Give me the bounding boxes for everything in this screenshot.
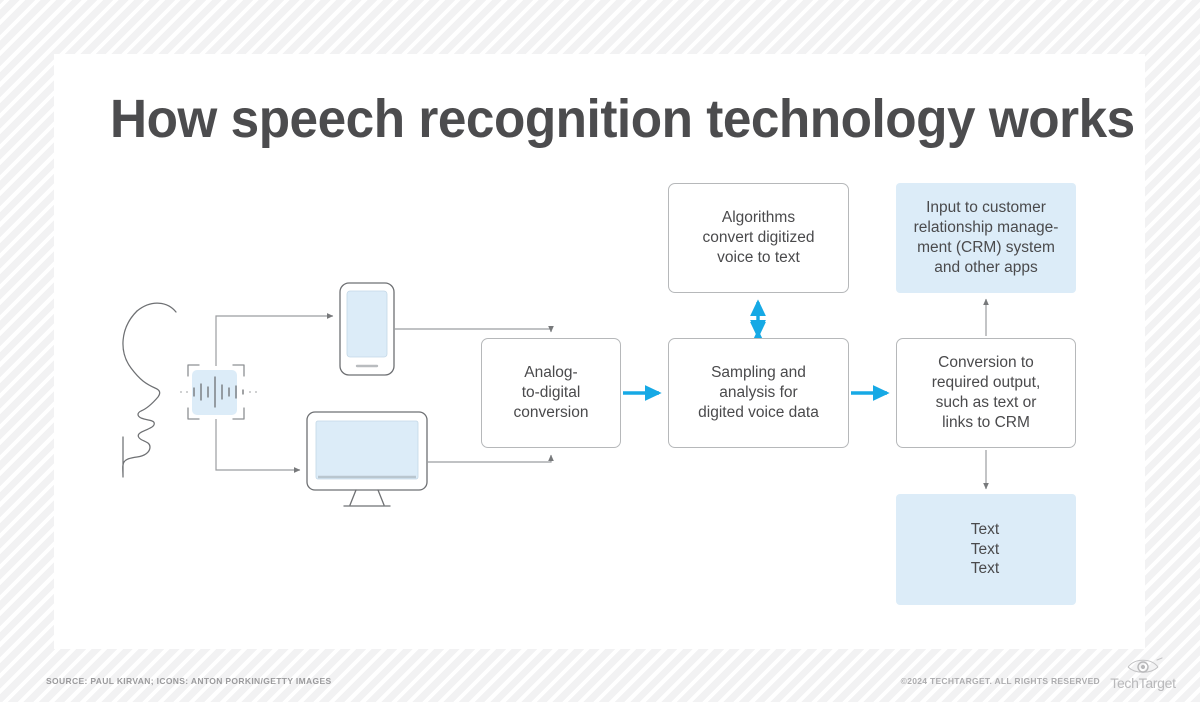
- eye-icon: [1104, 655, 1182, 677]
- copyright-notice: ©2024 TECHTARGET. ALL RIGHTS RESERVED: [901, 676, 1100, 686]
- process-box-sampling[interactable]: Sampling and analysis for digited voice …: [668, 338, 849, 448]
- infographic-stage: How speech recognition technology works: [0, 0, 1200, 702]
- desktop-monitor-icon: [307, 412, 427, 506]
- process-box-algorithms-label: Algorithms convert digitized voice to te…: [694, 208, 822, 267]
- process-box-conversion[interactable]: Conversion to required output, such as t…: [896, 338, 1076, 448]
- process-box-crm-label: Input to customer relationship manage- m…: [906, 198, 1067, 277]
- voice-waveform-icon: [181, 365, 256, 419]
- process-box-crm[interactable]: Input to customer relationship manage- m…: [896, 183, 1076, 293]
- techtarget-wordmark: TechTarget: [1104, 675, 1182, 691]
- process-box-analog-to-digital[interactable]: Analog- to-digital conversion: [481, 338, 621, 448]
- smartphone-icon: [340, 283, 394, 375]
- source-credit: SOURCE: PAUL KIRVAN; ICONS: ANTON PORKIN…: [46, 676, 332, 686]
- process-box-sampling-label: Sampling and analysis for digited voice …: [690, 363, 827, 422]
- process-box-analog-to-digital-label: Analog- to-digital conversion: [506, 363, 597, 422]
- process-box-algorithms[interactable]: Algorithms convert digitized voice to te…: [668, 183, 849, 293]
- techtarget-logo: TechTarget: [1104, 655, 1182, 695]
- process-box-text-output[interactable]: Text Text Text: [896, 494, 1076, 605]
- head-profile-icon: [123, 303, 176, 477]
- process-box-conversion-label: Conversion to required output, such as t…: [924, 353, 1049, 432]
- process-box-text-output-label: Text Text Text: [963, 520, 1007, 579]
